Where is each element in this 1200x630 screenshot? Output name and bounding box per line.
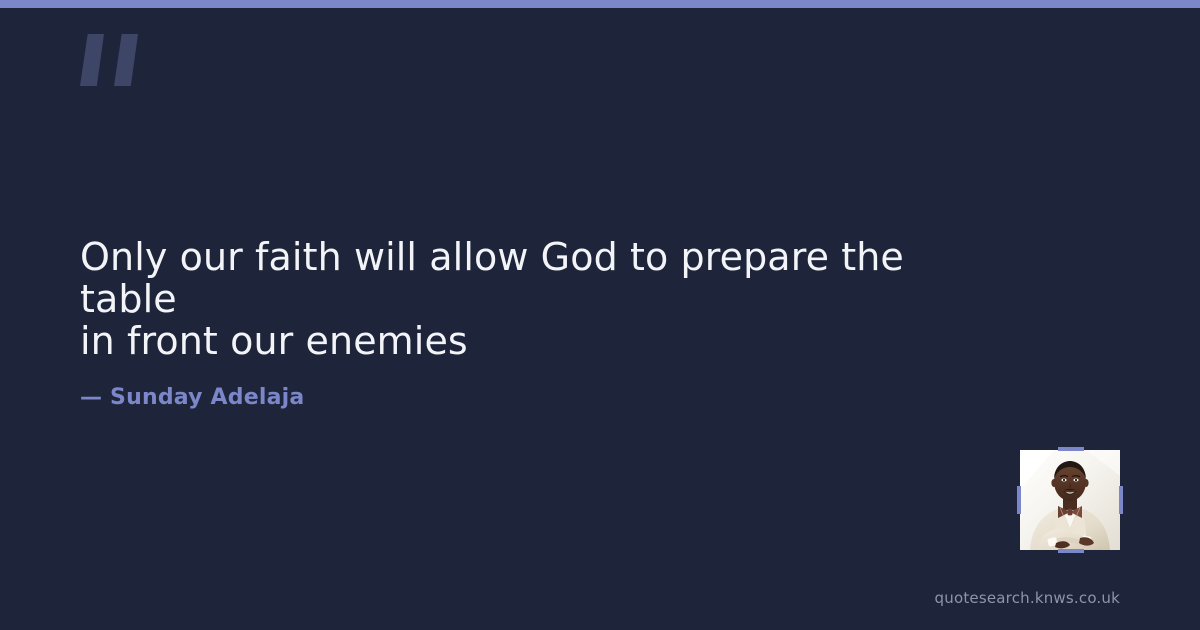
quote-text: Only our faith will allow God to prepare…: [80, 236, 1010, 362]
portrait-tick-right: [1119, 486, 1123, 514]
author-portrait-image: [1020, 450, 1120, 550]
site-watermark: quotesearch.knws.co.uk: [935, 588, 1120, 608]
portrait-tick-top: [1058, 447, 1084, 451]
author-portrait: [1020, 450, 1120, 550]
open-quote-icon: [80, 34, 150, 90]
open-quote-wedge-left: [80, 34, 104, 86]
quote-author: — Sunday Adelaja: [80, 384, 1010, 412]
quote-card: Only our faith will allow God to prepare…: [0, 0, 1200, 630]
author-portrait-frame: [1020, 450, 1120, 550]
top-accent-bar: [0, 0, 1200, 8]
portrait-tick-left: [1017, 486, 1021, 514]
portrait-tick-bottom: [1058, 549, 1084, 553]
quote-body: Only our faith will allow God to prepare…: [80, 236, 1010, 412]
open-quote-wedge-right: [114, 34, 138, 86]
